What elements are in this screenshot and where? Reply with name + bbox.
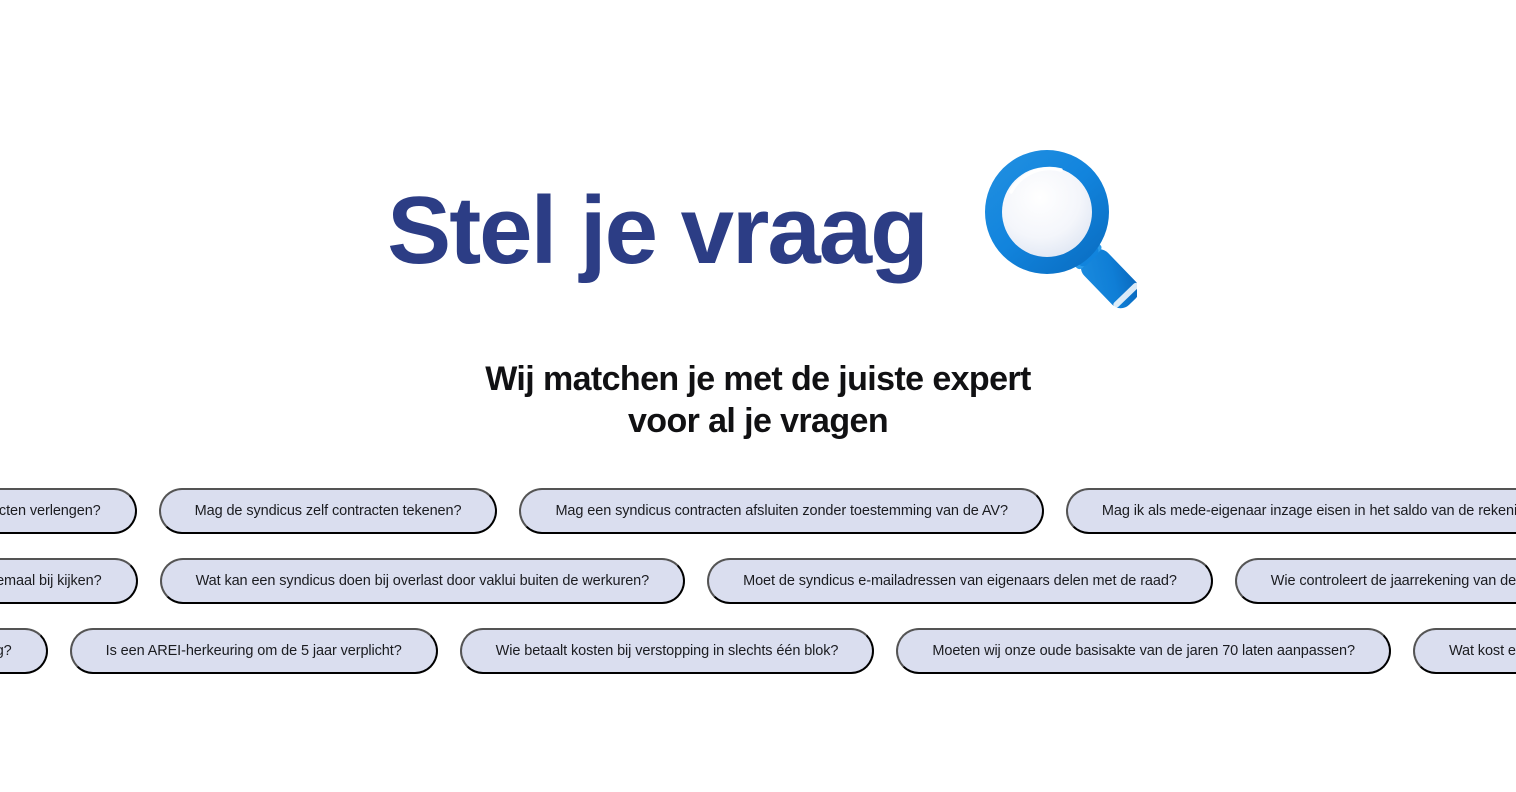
question-row-2: Moet de raad hier allemaal bij kijken? W… <box>0 558 1516 604</box>
question-pill[interactable]: Mag de syndicus zelf contracten tekenen? <box>159 488 498 534</box>
question-row-3: Wat kost een keuring? Is een AREI-herkeu… <box>0 628 1516 674</box>
question-track-2: Moet de raad hier allemaal bij kijken? W… <box>0 558 1516 604</box>
page-title: Stel je vraag <box>387 183 927 279</box>
question-pill[interactable]: Is een AREI-herkeuring om de 5 jaar verp… <box>70 628 438 674</box>
question-pill[interactable]: Wat kost een keuring? <box>0 628 48 674</box>
question-pill[interactable]: Moet de syndicus e-mailadressen van eige… <box>707 558 1213 604</box>
question-pill[interactable]: Mag de syndicus contracten verlengen? <box>0 488 137 534</box>
suggested-questions: Mag de syndicus contracten verlengen? Ma… <box>0 488 1516 698</box>
stel-je-vraag-page: Stel je vraag <box>0 0 1516 792</box>
question-pill[interactable]: Mag een syndicus contracten afsluiten zo… <box>519 488 1043 534</box>
hero-title-row: Stel je vraag <box>0 128 1516 333</box>
magnifying-glass-icon <box>957 134 1137 339</box>
question-pill[interactable]: Wie controleert de jaarrekening van de v… <box>1235 558 1516 604</box>
hero-section: Stel je vraag <box>0 0 1516 470</box>
question-pill[interactable]: Wie betaalt kosten bij verstopping in sl… <box>460 628 875 674</box>
question-pill[interactable]: Mag ik als mede-eigenaar inzage eisen in… <box>1066 488 1516 534</box>
question-pill[interactable]: Wat kost een keuring? <box>1413 628 1516 674</box>
question-pill[interactable]: Moeten wij onze oude basisakte van de ja… <box>896 628 1391 674</box>
question-track-1: Mag de syndicus contracten verlengen? Ma… <box>0 488 1516 534</box>
page-subtitle: Wij matchen je met de juiste expert voor… <box>448 359 1068 442</box>
question-pill[interactable]: Wat kan een syndicus doen bij overlast d… <box>160 558 686 604</box>
question-row-1: Mag de syndicus contracten verlengen? Ma… <box>0 488 1516 534</box>
question-pill[interactable]: Moet de raad hier allemaal bij kijken? <box>0 558 138 604</box>
question-track-3: Wat kost een keuring? Is een AREI-herkeu… <box>0 628 1516 674</box>
